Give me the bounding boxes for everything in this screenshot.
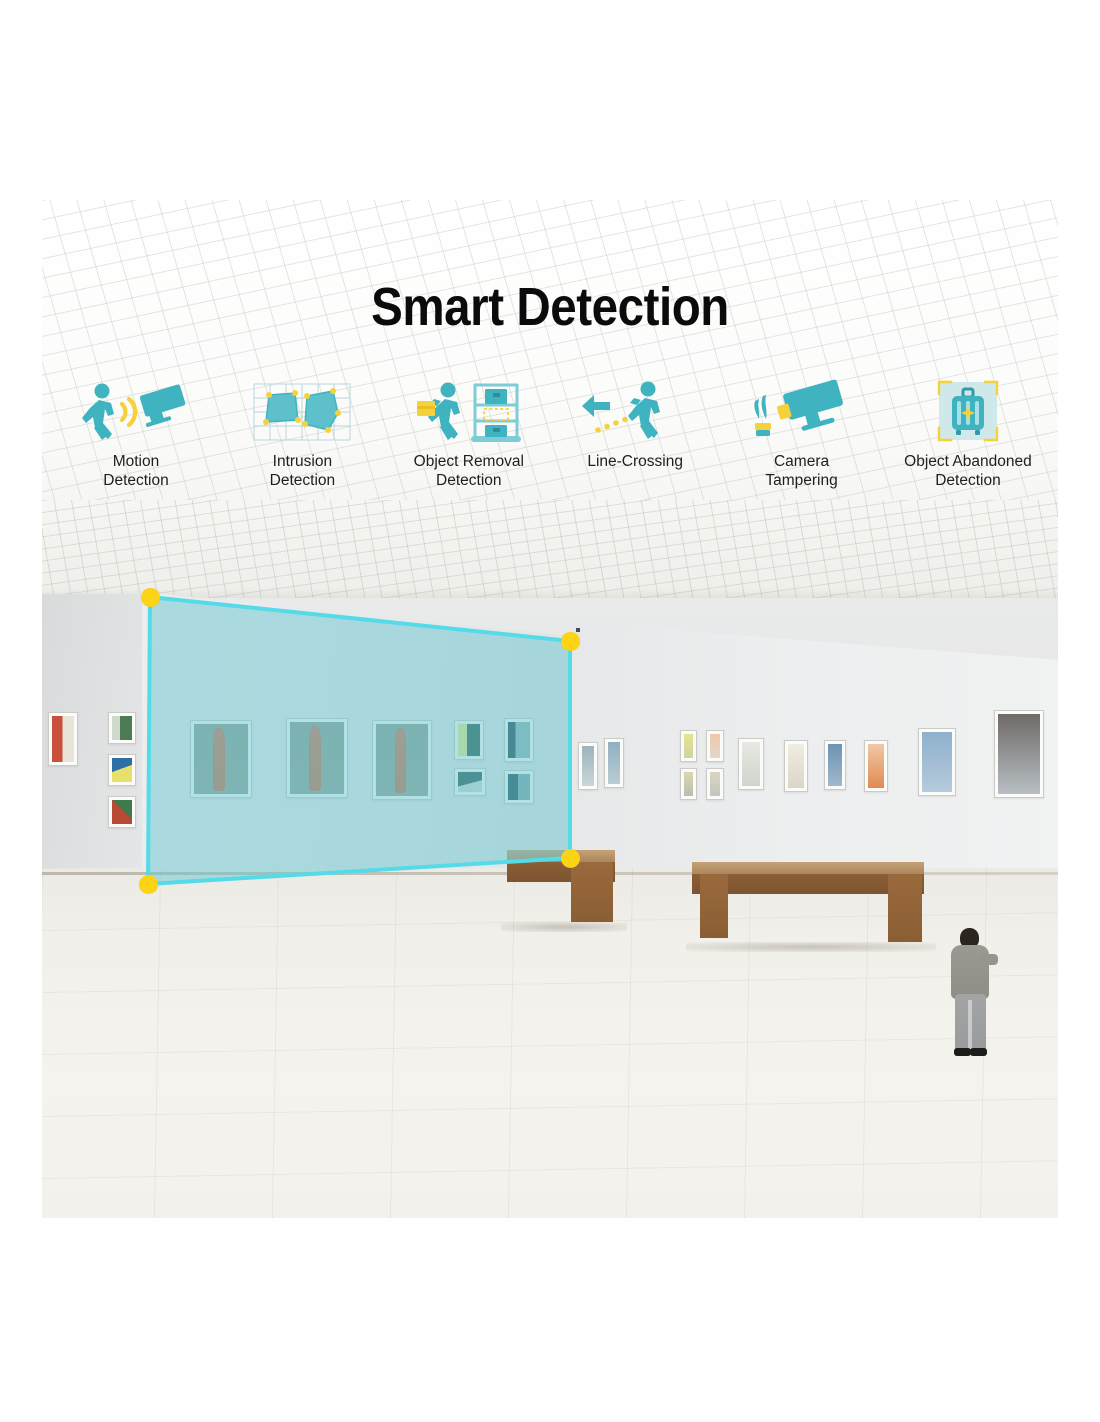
handle-bottom-right[interactable] — [561, 849, 580, 868]
visitor-legs — [955, 994, 986, 1050]
artwork-frame — [864, 740, 888, 792]
bench-shadow — [501, 922, 627, 932]
handle-top-left[interactable] — [141, 588, 160, 607]
feature-label: Intrusion Detection — [270, 452, 335, 490]
artwork-frame — [706, 768, 724, 800]
zone-marker-dot — [576, 628, 580, 632]
artwork-frame — [48, 712, 78, 766]
artwork-frame — [504, 770, 534, 804]
artwork-frame — [504, 718, 534, 762]
artwork-frame — [680, 768, 697, 800]
feature-object-abandoned-detection[interactable]: Object Abandoned Detection — [894, 378, 1042, 490]
feature-label: Object Removal Detection — [414, 452, 524, 490]
artwork-frame — [454, 768, 486, 796]
bench-leg — [571, 862, 613, 922]
visitor-shoe — [970, 1048, 987, 1056]
gallery-photo — [42, 200, 1058, 1218]
bench-shadow — [686, 942, 936, 952]
artwork-frame — [706, 730, 724, 762]
bench-back — [692, 862, 924, 950]
feature-list: Motion Detection — [62, 378, 1042, 490]
feature-label: Object Abandoned Detection — [904, 452, 1032, 490]
motion-detection-icon — [78, 378, 194, 446]
bench-leg — [888, 874, 922, 942]
artwork-frame — [604, 738, 624, 788]
feature-object-removal-detection[interactable]: Object Removal Detection — [395, 378, 543, 490]
artwork-frame — [738, 738, 764, 790]
feature-label: Line-Crossing — [587, 452, 683, 471]
artwork-frame — [286, 718, 348, 798]
line-crossing-icon — [577, 378, 693, 446]
feature-camera-tampering[interactable]: Camera Tampering — [728, 378, 876, 490]
page-root: Smart Detection — [0, 0, 1100, 1422]
visitor-shoe — [954, 1048, 971, 1056]
feature-label: Camera Tampering — [765, 452, 837, 490]
feature-motion-detection[interactable]: Motion Detection — [62, 378, 210, 490]
artwork-frame — [190, 720, 252, 798]
artwork-frame — [108, 712, 136, 744]
handle-bottom-left[interactable] — [139, 875, 158, 894]
camera-tampering-icon — [744, 378, 860, 446]
feature-line-crossing[interactable]: Line-Crossing — [561, 378, 709, 471]
artwork-frame — [994, 710, 1044, 798]
artwork-frame — [454, 720, 484, 760]
artwork-frame — [784, 740, 808, 792]
artwork-frame — [578, 742, 598, 790]
handle-top-right[interactable] — [561, 632, 580, 651]
bench-leg — [700, 874, 728, 938]
object-removal-detection-icon — [411, 378, 527, 446]
feature-intrusion-detection[interactable]: Intrusion Detection — [228, 378, 376, 490]
visitor-arm — [980, 954, 998, 965]
intrusion-detection-icon — [244, 378, 360, 446]
artwork-frame — [824, 740, 846, 790]
artwork-frame — [680, 730, 697, 762]
artwork-frame — [372, 720, 432, 800]
page-title: Smart Detection — [66, 276, 1034, 338]
feature-label: Motion Detection — [103, 452, 168, 490]
artwork-frame — [108, 796, 136, 828]
object-abandoned-detection-icon — [910, 378, 1026, 446]
artwork-frame — [918, 728, 956, 796]
artwork-frame — [108, 754, 136, 786]
